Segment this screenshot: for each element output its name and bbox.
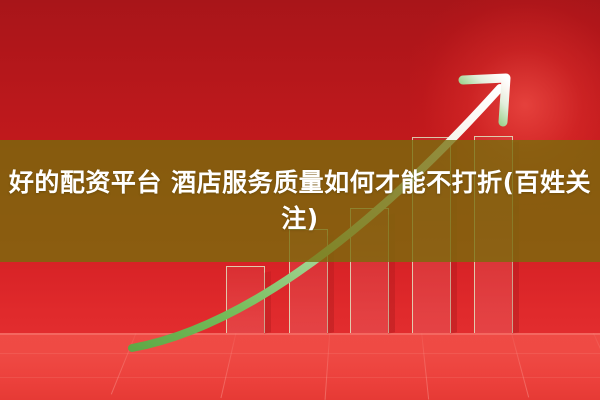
title-banner: 好的配资平台 酒店服务质量如何才能不打折(百姓关注) [0, 140, 600, 262]
promo-banner-image: 好的配资平台 酒店服务质量如何才能不打折(百姓关注) [0, 0, 600, 400]
page-title: 好的配资平台 酒店服务质量如何才能不打折(百姓关注) [0, 165, 600, 238]
chart-bar [226, 266, 265, 333]
